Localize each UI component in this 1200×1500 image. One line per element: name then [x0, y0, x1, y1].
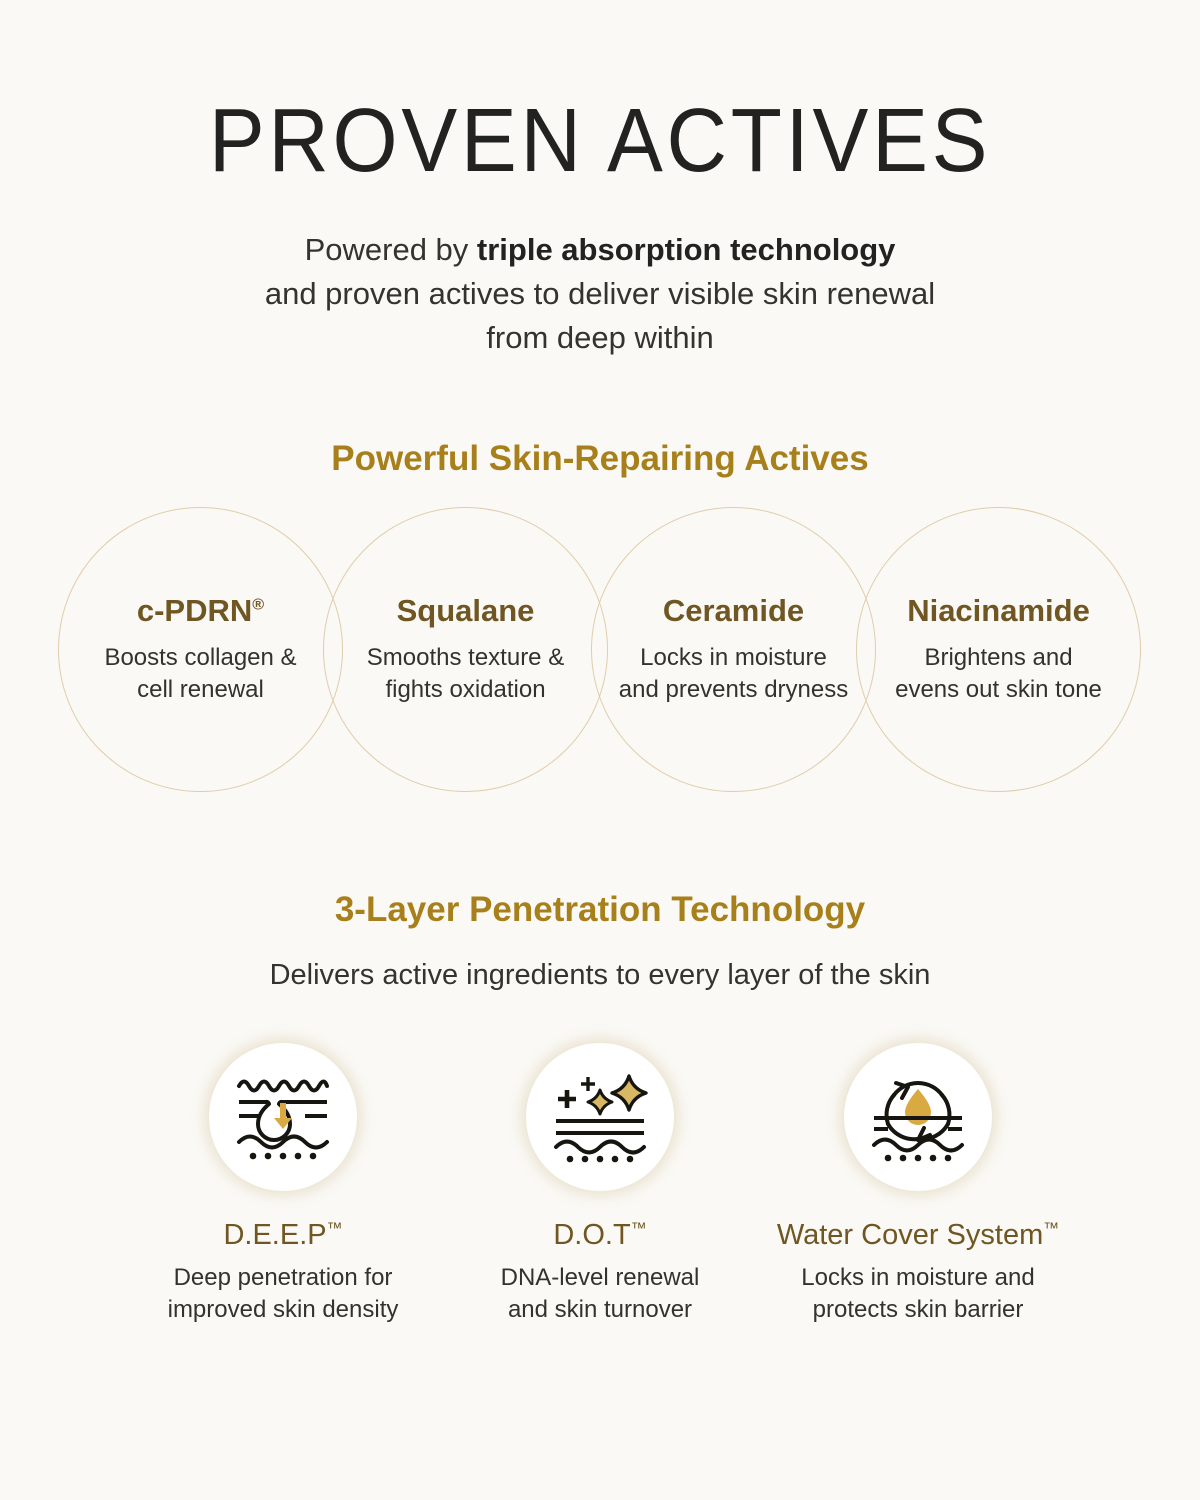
technology-section-subheading: Delivers active ingredients to every lay… [0, 931, 1200, 995]
technology-name: Water Cover System™ [753, 1219, 1083, 1252]
intro-paragraph: Powered by triple absorption technology … [0, 186, 1200, 360]
technology-name: D.O.T™ [435, 1219, 765, 1252]
ingredient-name: Ceramide [663, 594, 804, 628]
registered-mark-icon: ® [252, 596, 264, 614]
ingredient-description: Smooths texture & fights oxidation [367, 642, 564, 704]
ingredient-description: Brightens and evens out skin tone [895, 642, 1102, 704]
ingredient-circles-row: c-PDRN® Boosts collagen & cell renewal S… [0, 507, 1200, 807]
intro-line-3: from deep within [486, 320, 713, 355]
ingredient-name: c-PDRN® [137, 594, 264, 628]
ingredient-name: Squalane [397, 594, 535, 628]
actives-section-heading: Powerful Skin-Repairing Actives [0, 360, 1200, 480]
intro-highlight: triple absorption technology [477, 232, 896, 267]
technology-description: Locks in moisture and protects skin barr… [753, 1262, 1083, 1325]
technology-item-water-cover-system: Water Cover System™ Locks in moisture an… [753, 1043, 1083, 1326]
technology-item-deep: D.E.E.P™ Deep penetration for improved s… [118, 1043, 448, 1326]
ingredient-description: Boosts collagen & cell renewal [104, 642, 296, 704]
ingredient-name: Niacinamide [907, 594, 1090, 628]
technology-name: D.E.E.P™ [118, 1219, 448, 1252]
intro-prefix: Powered by [305, 232, 477, 267]
ingredient-circle-squalane: Squalane Smooths texture & fights oxidat… [323, 507, 608, 792]
water-droplet-cycle-icon [844, 1043, 992, 1191]
ingredient-circle-niacinamide: Niacinamide Brightens and evens out skin… [856, 507, 1141, 792]
trademark-mark-icon: ™ [631, 1220, 647, 1237]
trademark-mark-icon: ™ [327, 1220, 343, 1237]
skin-pore-absorption-icon [209, 1043, 357, 1191]
technology-item-dot: D.O.T™ DNA-level renewal and skin turnov… [435, 1043, 765, 1326]
page-title: PROVEN ACTIVES [42, 0, 1158, 186]
ingredient-description: Locks in moisture and prevents dryness [619, 642, 848, 704]
skin-sparkle-renewal-icon [526, 1043, 674, 1191]
trademark-mark-icon: ™ [1043, 1220, 1059, 1237]
intro-line-2: and proven actives to deliver visible sk… [265, 276, 935, 311]
ingredient-circle-ceramide: Ceramide Locks in moisture and prevents … [591, 507, 876, 792]
technology-items-row: D.E.E.P™ Deep penetration for improved s… [0, 1043, 1200, 1373]
ingredient-circle-c-pdrn: c-PDRN® Boosts collagen & cell renewal [58, 507, 343, 792]
technology-description: DNA-level renewal and skin turnover [435, 1262, 765, 1325]
technology-description: Deep penetration for improved skin densi… [118, 1262, 448, 1325]
technology-section-heading: 3-Layer Penetration Technology [0, 807, 1200, 931]
intro-line-1: Powered by triple absorption technology [305, 232, 896, 267]
